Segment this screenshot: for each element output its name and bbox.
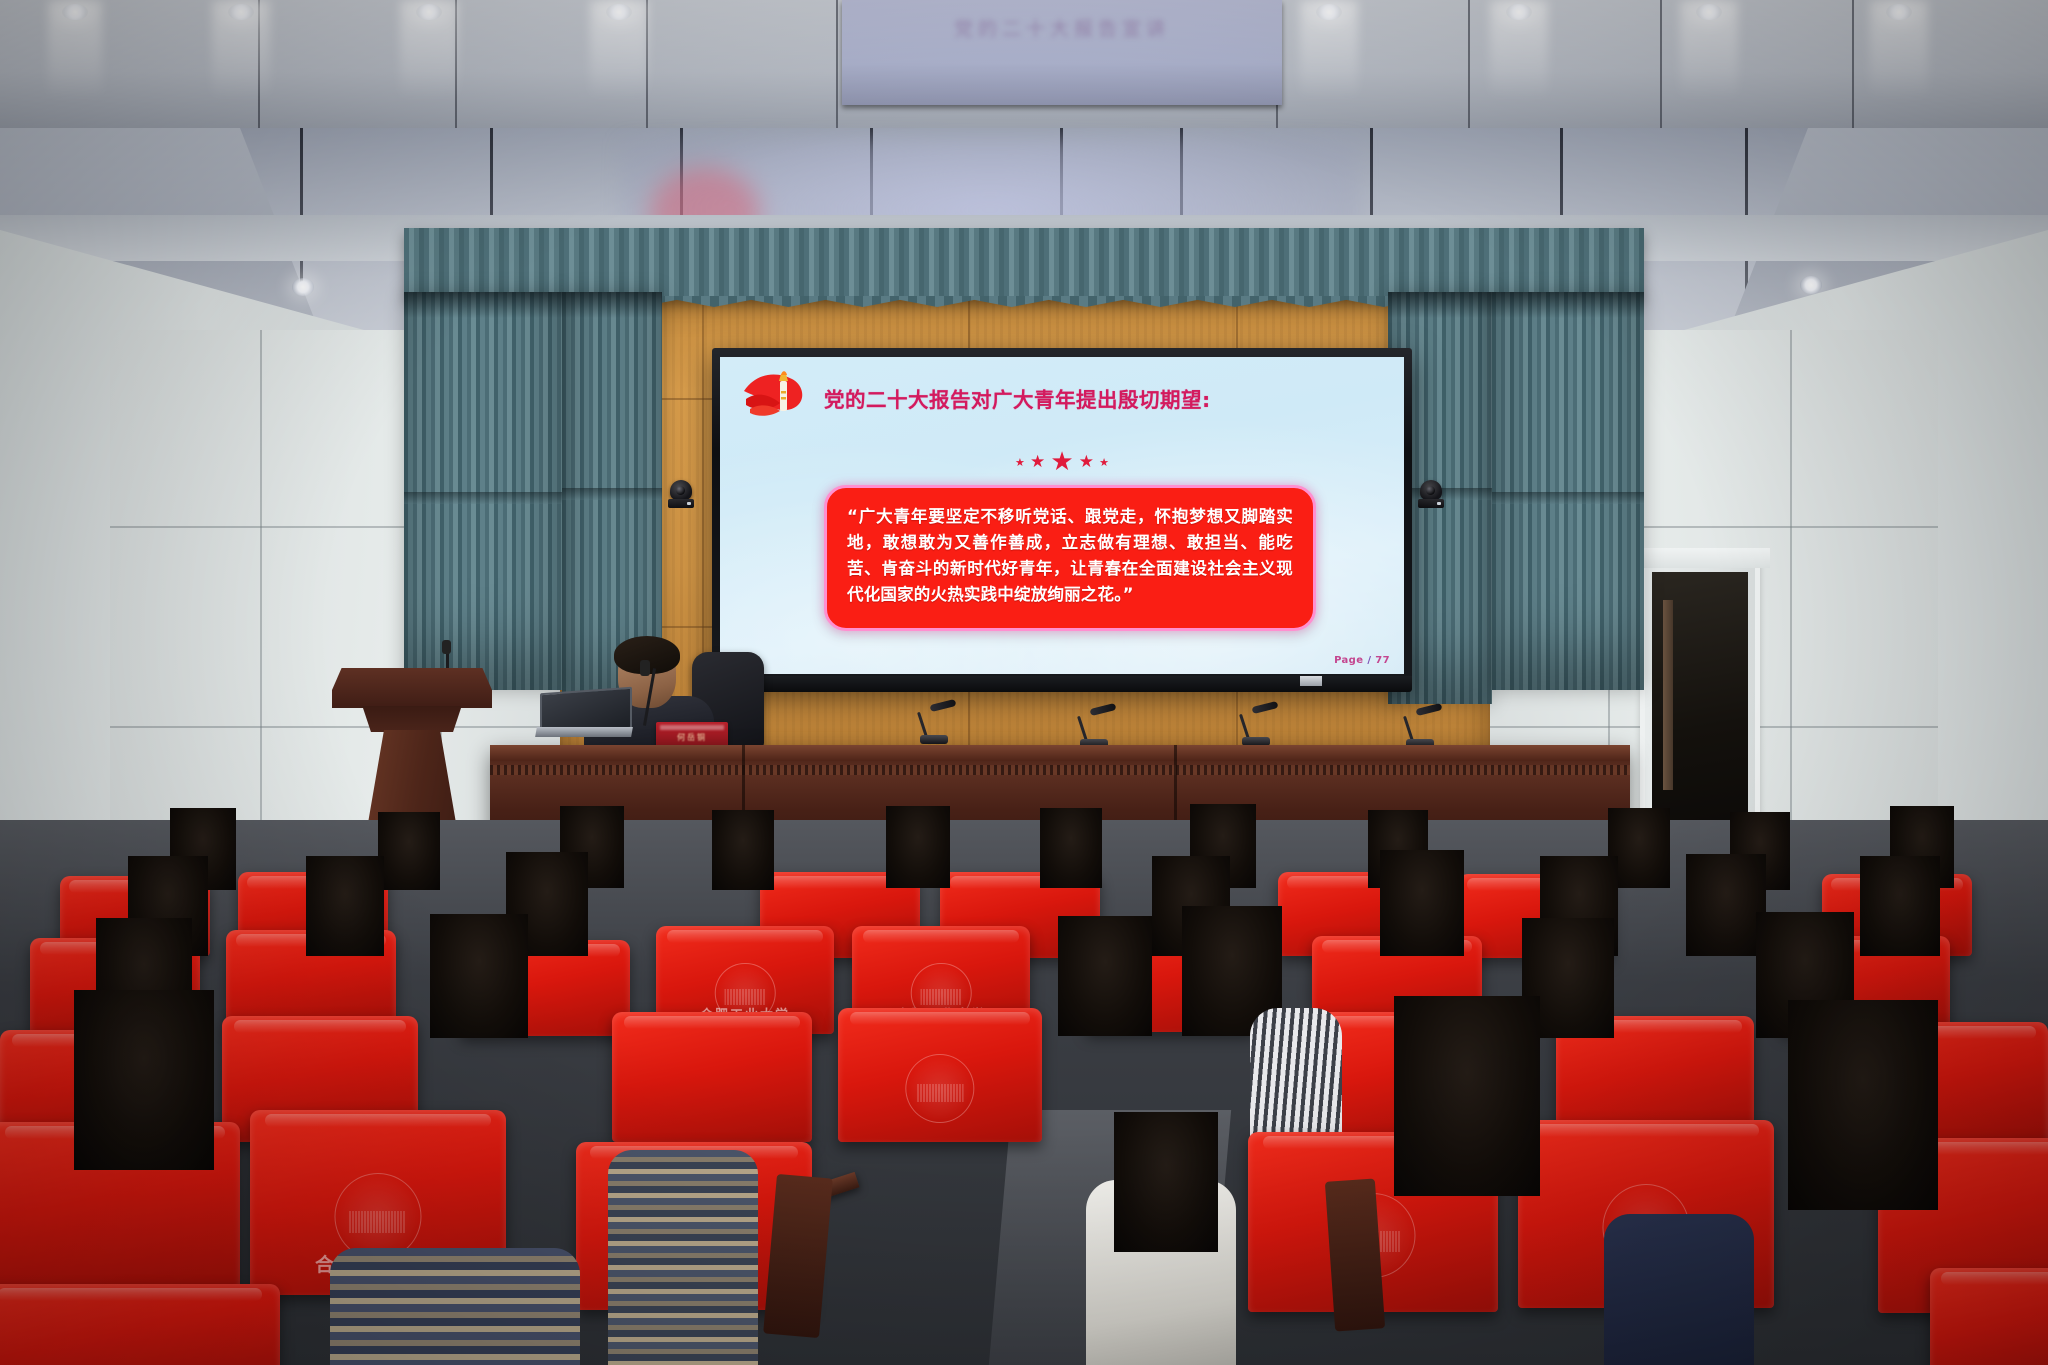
slide-quote-box: “广大青年要坚定不移听党话、跟党走，怀抱梦想又脚踏实地，敢想敢为又善作善成，立志… — [824, 485, 1316, 631]
page-total: 77 — [1375, 655, 1390, 666]
downlight — [292, 278, 314, 296]
attendee — [886, 806, 950, 888]
auditorium-seat[interactable] — [612, 1012, 812, 1142]
downlight — [1316, 4, 1342, 20]
star-icon: ★ — [1015, 457, 1025, 468]
screen-mount-bracket — [1300, 676, 1322, 686]
lectern-microphone-capsule — [442, 640, 451, 654]
downlight — [606, 4, 632, 20]
attendee — [306, 856, 384, 956]
slide-title: 党的二十大报告对广大青年提出殷切期望: — [824, 383, 1211, 413]
downlight — [1506, 4, 1532, 20]
attendee — [1040, 808, 1102, 888]
downlight — [1886, 4, 1912, 20]
attendee — [1380, 850, 1464, 956]
door-header — [1632, 548, 1770, 568]
table-microphone — [1398, 706, 1442, 748]
ptz-camera-right — [1418, 480, 1444, 510]
ptz-camera-left — [668, 480, 694, 510]
attendee — [608, 1150, 758, 1365]
downlight — [62, 4, 88, 20]
stage-curtain-far-left — [404, 292, 562, 690]
presenter-microphone-capsule — [640, 660, 650, 676]
auditorium-seat[interactable] — [1930, 1268, 2048, 1365]
ceiling-screen-reflection: 党的二十大报告宣讲 — [842, 0, 1282, 105]
presenter-laptop-base[interactable] — [535, 727, 633, 737]
attendee — [712, 810, 774, 890]
attendee — [330, 1248, 580, 1365]
downlight — [228, 4, 254, 20]
university-emblem-icon — [905, 1054, 974, 1123]
attendee — [74, 990, 214, 1170]
attendee — [1686, 854, 1766, 956]
red-flag-torch-logo — [740, 369, 816, 431]
page-label: Page — [1334, 655, 1363, 666]
attendee — [1788, 1000, 1938, 1210]
star-icon: ★ — [1030, 454, 1045, 471]
stage-curtain-far-right — [1492, 292, 1644, 690]
attendee — [378, 812, 440, 890]
star-icon: ★ — [1050, 449, 1073, 475]
attendee — [1860, 856, 1940, 956]
auditorium-seat[interactable] — [0, 1284, 280, 1365]
slide-quote-text: “广大青年要坚定不移听党话、跟党走，怀抱梦想又脚踏实地，敢想敢为又善作善成，立志… — [847, 504, 1293, 608]
page-separator: / — [1367, 655, 1371, 666]
university-emblem-icon — [334, 1173, 421, 1260]
downlight — [416, 4, 442, 20]
attendee — [1058, 916, 1152, 1036]
table-microphone — [912, 702, 956, 744]
table-microphone — [1234, 704, 1278, 746]
stage-valance — [404, 228, 1644, 298]
presenter-nameplate-text: 何岳铜 — [656, 732, 728, 743]
downlight — [1696, 4, 1722, 20]
attendee — [430, 914, 528, 1038]
auditorium-seat[interactable] — [838, 1008, 1042, 1142]
table-microphone — [1072, 706, 1116, 748]
slide-page-indicator: Page / 77 — [1334, 655, 1390, 666]
star-icon: ★ — [1099, 457, 1109, 468]
led-presentation-screen[interactable]: 党的二十大报告对广大青年提出殷切期望: ★ ★ ★ ★ ★ “广大青年要坚定不移… — [712, 348, 1412, 686]
auditorium-photo-scene: 党的二十大报告宣讲 — [0, 0, 2048, 1365]
star-icon: ★ — [1079, 454, 1094, 471]
slide-canvas: 党的二十大报告对广大青年提出殷切期望: ★ ★ ★ ★ ★ “广大青年要坚定不移… — [720, 357, 1404, 674]
star-row: ★ ★ ★ ★ ★ — [720, 449, 1404, 475]
attendee — [1114, 1112, 1218, 1252]
door-jamb — [1663, 600, 1673, 790]
reflection-blurred-text: 党的二十大报告宣讲 — [842, 14, 1282, 41]
downlight — [1800, 276, 1822, 294]
attendee — [1604, 1214, 1754, 1365]
seat-armrest — [1325, 1178, 1385, 1331]
attendee — [1394, 996, 1540, 1196]
